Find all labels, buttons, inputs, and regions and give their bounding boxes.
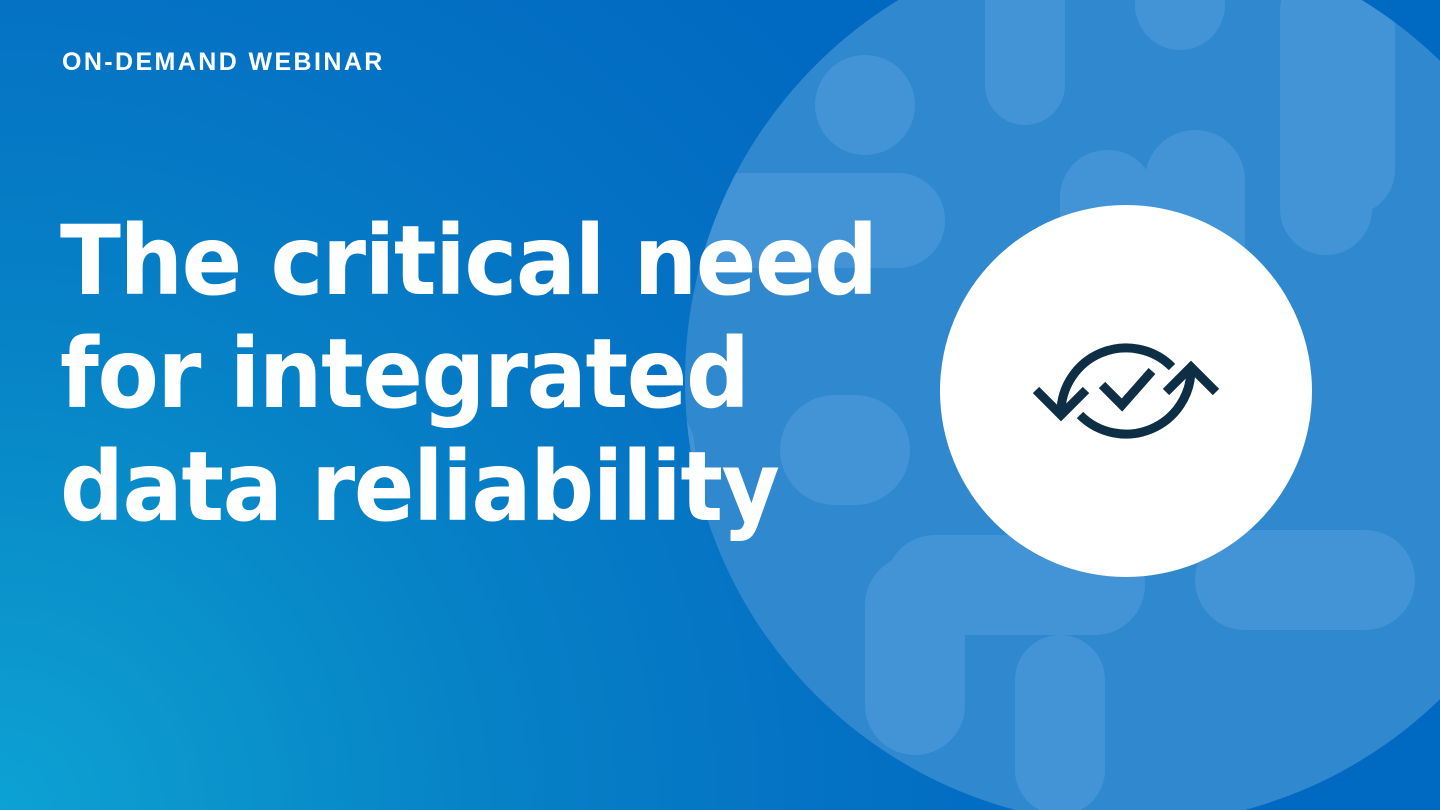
headline-line-3: data reliability [60, 431, 832, 544]
page-title: The critical need for integrated data re… [60, 205, 890, 544]
webinar-title-card: ON-DEMAND WEBINAR The critical need for … [0, 0, 1440, 810]
sync-check-icon [1021, 311, 1231, 471]
pill-vertical-8 [1015, 635, 1105, 810]
dot-1 [815, 55, 915, 155]
headline-line-1: The critical need [60, 205, 832, 318]
headline-line-2: for integrated [60, 318, 832, 431]
eyebrow-label: ON-DEMAND WEBINAR [62, 50, 385, 75]
pill-vertical-2 [1135, 0, 1225, 50]
pill-vertical-1 [985, 0, 1065, 125]
pill-vertical-6 [1280, 0, 1372, 255]
pill-vertical-7 [865, 555, 965, 755]
icon-badge [940, 205, 1312, 577]
